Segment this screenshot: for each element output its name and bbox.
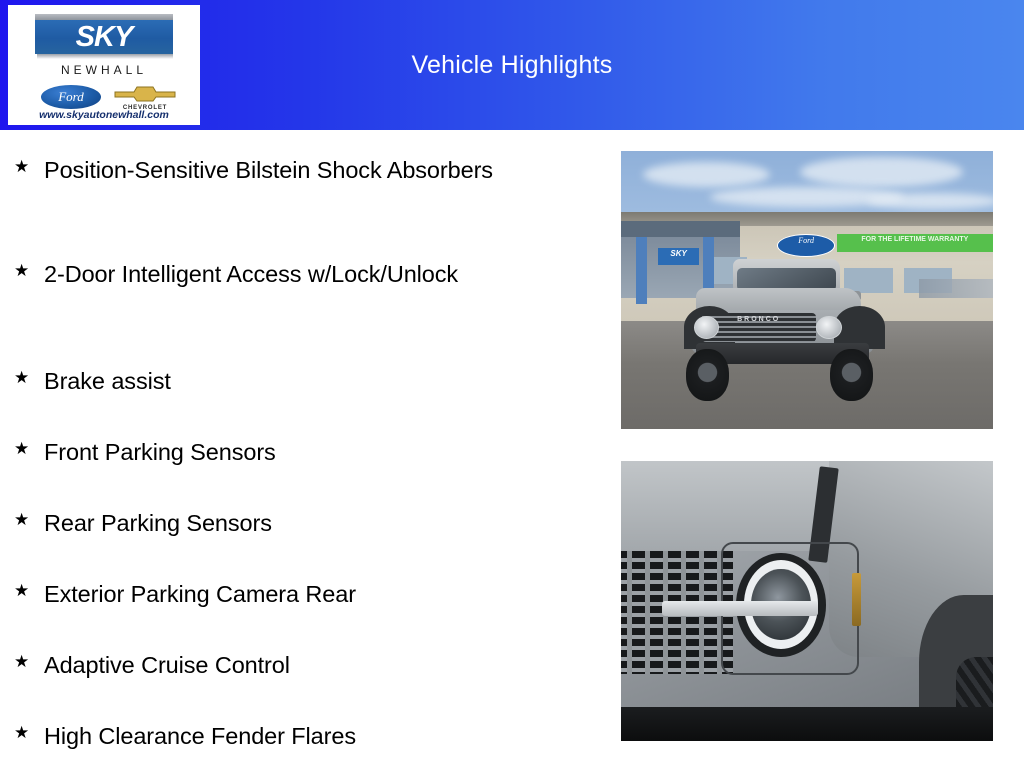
star-bullet-icon: ★ (14, 364, 44, 392)
amber-side-marker (852, 573, 862, 626)
ford-oval-icon: Ford (40, 84, 102, 110)
star-bullet-icon: ★ (14, 648, 44, 676)
list-item-label: High Clearance Fender Flares (44, 719, 356, 753)
star-bullet-icon: ★ (14, 153, 44, 181)
headlight (816, 316, 842, 339)
list-item: ★ Adaptive Cruise Control (14, 648, 594, 682)
chrome-grille-bar (662, 601, 818, 616)
list-item-label: Exterior Parking Camera Rear (44, 577, 356, 611)
list-item: ★ Rear Parking Sensors (14, 506, 594, 540)
list-item: ★ Brake assist (14, 364, 594, 398)
warranty-banner: FOR THE LIFETIME WARRANTY (837, 234, 993, 252)
cloud-shape (800, 157, 964, 188)
dealer-logo[interactable]: SKY NEWHALL Ford CHEVROLET www.skyautone… (8, 5, 200, 125)
inventory-vehicles (919, 279, 993, 298)
star-bullet-icon: ★ (14, 719, 44, 747)
front-tire (686, 349, 729, 401)
star-bullet-icon: ★ (14, 506, 44, 534)
list-item: ★ Exterior Parking Camera Rear (14, 577, 594, 611)
list-item: ★ Front Parking Sensors (14, 435, 594, 469)
bronco-vehicle: BRONCO (692, 259, 889, 401)
vehicle-photo-headlight-detail[interactable] (621, 461, 993, 741)
ford-building-sign: Ford (777, 234, 835, 257)
chevrolet-bowtie-icon: CHEVROLET (112, 83, 178, 111)
star-bullet-icon: ★ (14, 577, 44, 605)
service-canopy (621, 221, 740, 238)
sky-badge: SKY (35, 14, 173, 59)
list-item-label: Position-Sensitive Bilstein Shock Absorb… (44, 153, 493, 187)
bowtie-svg (112, 83, 178, 103)
star-bullet-icon: ★ (14, 257, 44, 285)
list-item-label: Adaptive Cruise Control (44, 648, 290, 682)
logo-location-label: NEWHALL (8, 63, 200, 77)
list-item-label: 2-Door Intelligent Access w/Lock/Unlock (44, 257, 458, 291)
cloud-shape (643, 162, 769, 187)
list-item-label: Brake assist (44, 364, 171, 398)
sky-wordmark: SKY (35, 20, 173, 54)
list-item: ★ 2-Door Intelligent Access w/Lock/Unloc… (14, 257, 594, 291)
dealer-website-url[interactable]: www.skyautonewhall.com (8, 109, 200, 121)
front-tire (830, 349, 873, 401)
warranty-banner-text: FOR THE LIFETIME WARRANTY (837, 234, 993, 252)
lower-bumper (621, 707, 993, 741)
ford-wordmark: Ford (41, 85, 101, 108)
list-item-label: Front Parking Sensors (44, 435, 276, 469)
list-item: ★ Position-Sensitive Bilstein Shock Abso… (14, 153, 594, 187)
vehicle-photo-exterior-front[interactable]: SKY Ford FOR THE LIFETIME WARRANTY BRONC… (621, 151, 993, 429)
ford-building-sign-text: Ford (778, 235, 834, 256)
canopy-pillar (636, 237, 647, 304)
franchise-badges: Ford CHEVROLET (8, 83, 200, 111)
sky-badge-shadow (37, 54, 173, 59)
list-item-label: Rear Parking Sensors (44, 506, 272, 540)
list-item: ★ High Clearance Fender Flares (14, 719, 594, 753)
star-bullet-icon: ★ (14, 435, 44, 463)
